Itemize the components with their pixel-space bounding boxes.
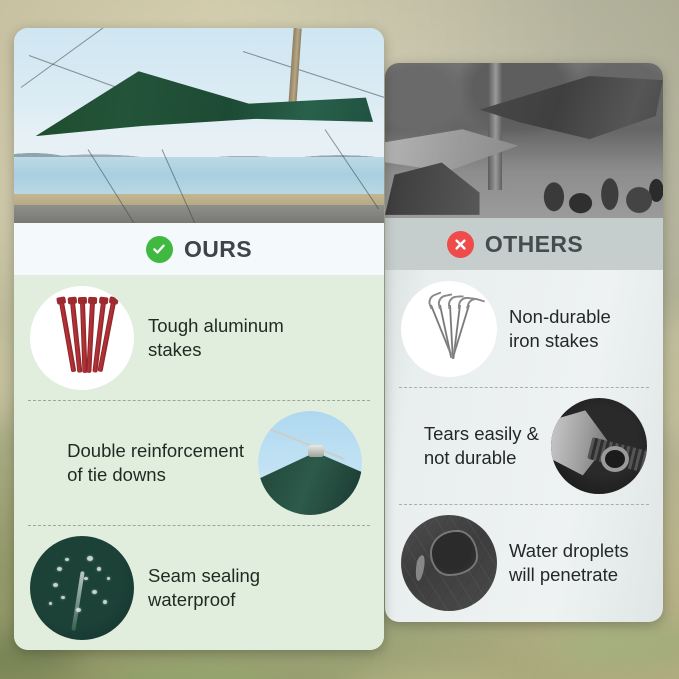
others-hero-camp-gear bbox=[530, 165, 663, 218]
red-aluminum-stakes-thumb bbox=[30, 286, 134, 390]
ours-feature-list: Tough aluminum stakes Double reinforceme… bbox=[14, 275, 384, 650]
others-feature-list: Non-durable iron stakes Tears easily & n… bbox=[385, 270, 663, 621]
others-feature-text: Water droplets will penetrate bbox=[509, 539, 629, 586]
ours-feature-row: Seam sealing waterproof bbox=[14, 525, 384, 650]
others-card: OTHERS Non-durable iron stakes bbox=[385, 63, 663, 622]
comparison-infographic: OTHERS Non-durable iron stakes bbox=[0, 0, 679, 679]
check-circle-icon bbox=[146, 236, 173, 263]
others-feature-text: Tears easily & not durable bbox=[424, 422, 539, 469]
others-hero-tree-trunk bbox=[488, 63, 502, 190]
ours-feature-text: Double reinforcement of tie downs bbox=[67, 439, 244, 486]
others-feature-row: Water droplets will penetrate bbox=[385, 504, 663, 621]
others-feature-row: Tears easily & not durable bbox=[385, 387, 663, 504]
ours-card: OURS Tough aluminum stakes bbox=[14, 28, 384, 650]
ours-hero-road bbox=[14, 205, 384, 223]
thin-iron-stakes-thumb bbox=[401, 281, 497, 377]
others-feature-text: Non-durable iron stakes bbox=[509, 305, 611, 352]
seam-sealing-waterproof-thumb bbox=[30, 536, 134, 640]
ours-feature-text: Seam sealing waterproof bbox=[148, 564, 260, 611]
others-label-bar: OTHERS bbox=[385, 218, 663, 270]
ours-feature-text: Tough aluminum stakes bbox=[148, 314, 284, 361]
others-feature-row: Non-durable iron stakes bbox=[385, 270, 663, 387]
ours-hero-lake bbox=[14, 157, 384, 196]
tie-down-reinforcement-thumb bbox=[258, 411, 362, 515]
others-label: OTHERS bbox=[485, 231, 583, 258]
torn-grommet-thumb bbox=[551, 398, 647, 494]
x-circle-icon bbox=[447, 231, 474, 258]
others-hero-photo bbox=[385, 63, 663, 218]
ours-feature-row: Double reinforcement of tie downs bbox=[14, 400, 384, 525]
wet-fabric-thumb bbox=[401, 515, 497, 611]
ours-label: OURS bbox=[184, 236, 252, 263]
ours-hero-photo bbox=[14, 28, 384, 223]
ours-feature-row: Tough aluminum stakes bbox=[14, 275, 384, 400]
ours-label-bar: OURS bbox=[14, 223, 384, 275]
ours-hero-tree-trunk bbox=[273, 28, 293, 223]
